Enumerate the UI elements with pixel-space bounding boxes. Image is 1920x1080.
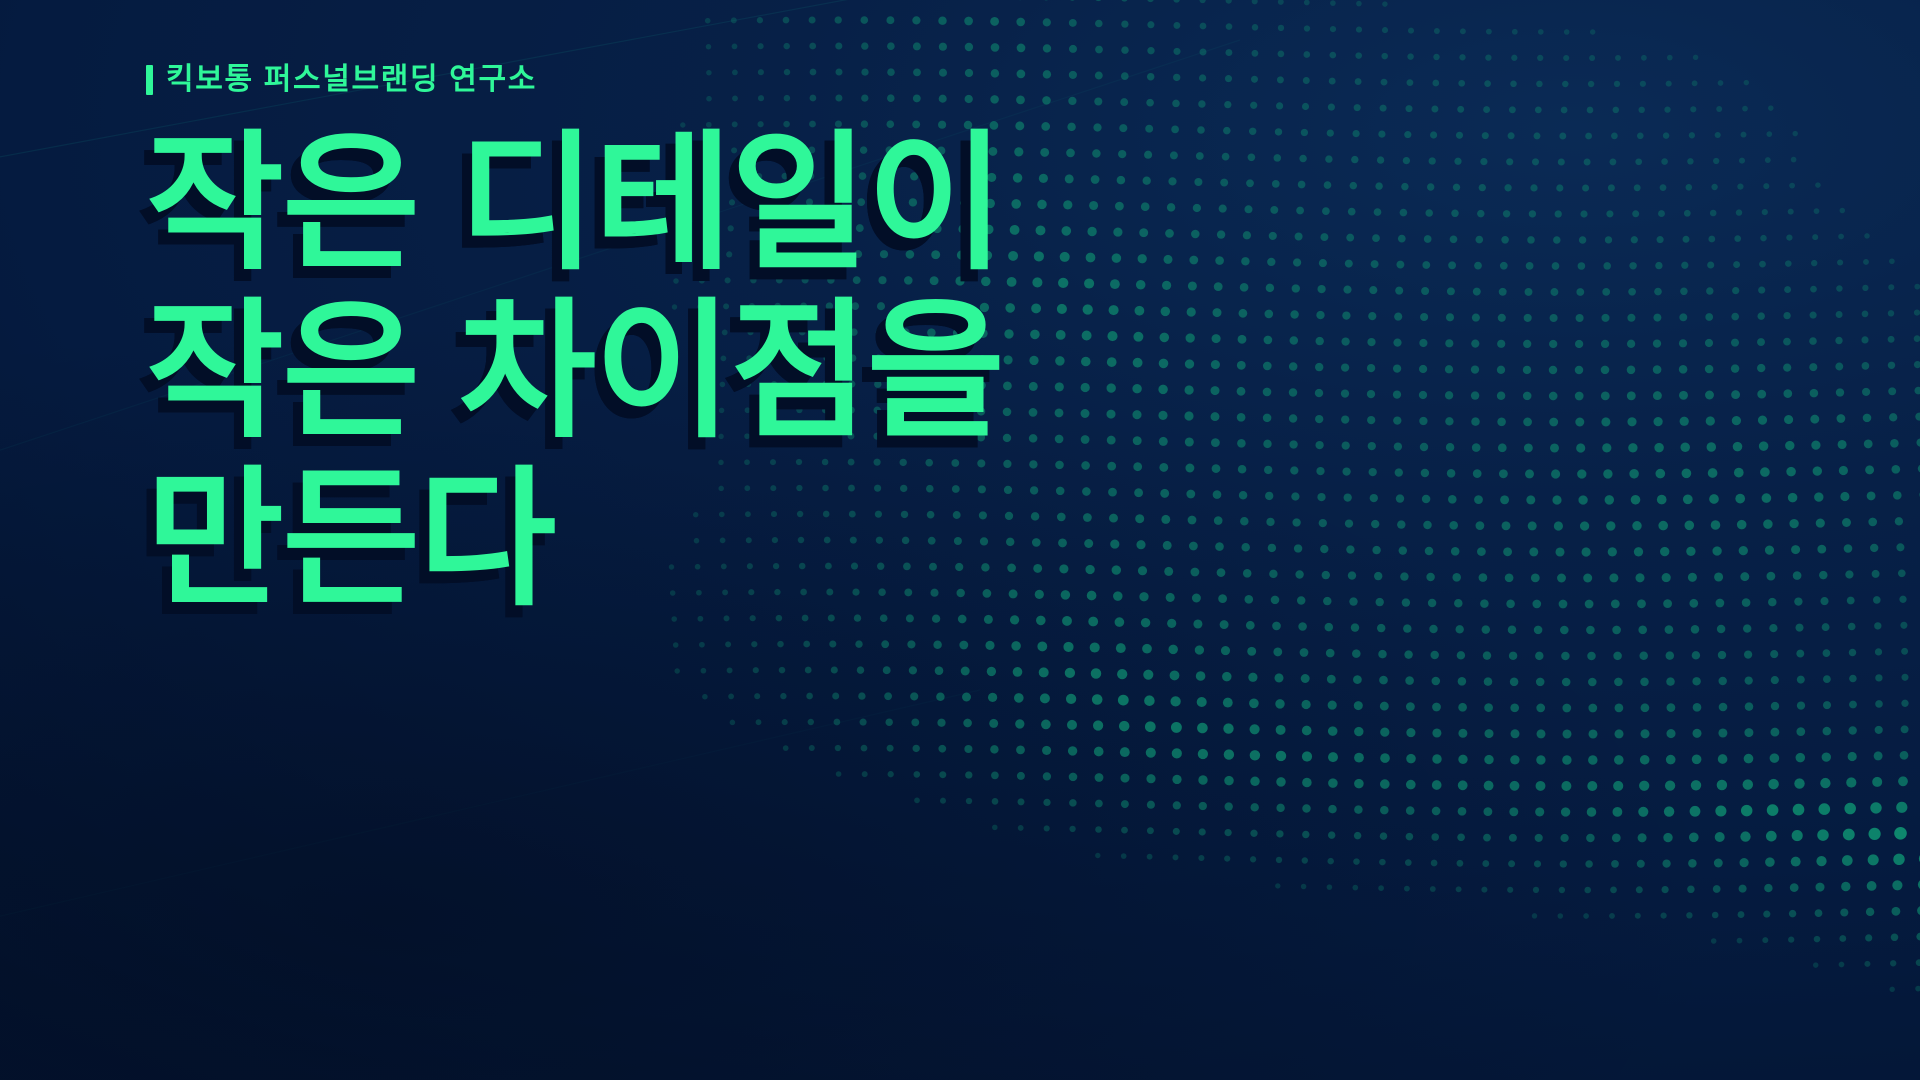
headline-line-3: 만든다 bbox=[146, 464, 1146, 614]
eyebrow: 킥보통 퍼스널브랜딩 연구소 bbox=[146, 60, 1146, 100]
page-title: 작은 디테일이 작은 차이점을 만든다 bbox=[146, 128, 1146, 614]
headline-line-1: 작은 디테일이 bbox=[146, 128, 1146, 278]
title-slide: 킥보통 퍼스널브랜딩 연구소 작은 디테일이 작은 차이점을 만든다 bbox=[0, 0, 1920, 1080]
eyebrow-label: 킥보통 퍼스널브랜딩 연구소 bbox=[166, 65, 537, 95]
slide-content: 킥보통 퍼스널브랜딩 연구소 작은 디테일이 작은 차이점을 만든다 bbox=[146, 60, 1146, 614]
headline-line-2: 작은 차이점을 bbox=[146, 296, 1146, 446]
vertical-bar-icon bbox=[146, 65, 153, 95]
